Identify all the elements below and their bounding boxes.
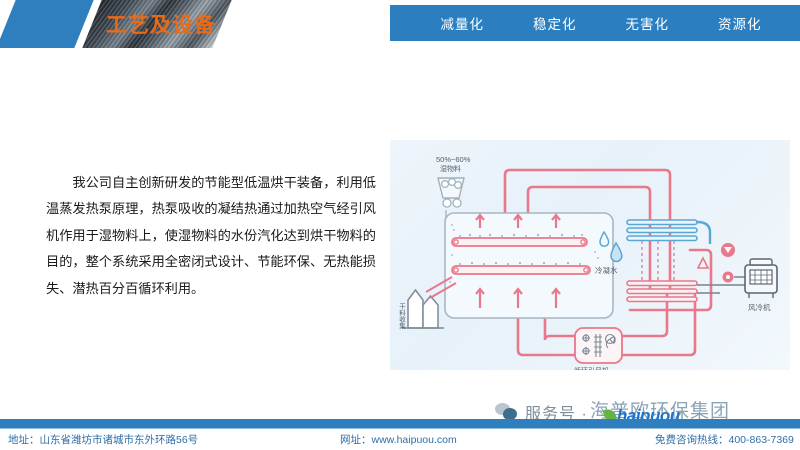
- header: 工艺及设备 减量化 稳定化 无害化 资源化: [0, 0, 800, 50]
- header-navbar: 减量化 稳定化 无害化 资源化: [390, 5, 800, 41]
- circulation-fan-label: 循环引风机: [574, 366, 609, 370]
- down-valve-icon: [721, 243, 735, 257]
- dry-collection-label: 干料收集: [398, 303, 406, 331]
- process-diagram: 50%~60% 湿物料 干料收集: [390, 140, 790, 370]
- air-cooler-label: 风冷机: [748, 302, 771, 312]
- diagram-svg: 50%~60% 湿物料 干料收集: [390, 140, 790, 370]
- wet-material-hopper-icon: [438, 178, 464, 218]
- nav-item-ziyuan[interactable]: 资源化: [718, 13, 762, 33]
- cooling-coil: [627, 220, 697, 241]
- circulation-fan-icon: [575, 328, 622, 363]
- nav-item-wuhai[interactable]: 无害化: [626, 13, 670, 33]
- wet-material-label: 湿物料: [440, 164, 461, 173]
- dry-collection-silo-icon: [402, 290, 444, 328]
- heating-coil: [627, 281, 697, 302]
- expansion-valve-icon: [698, 258, 708, 268]
- body-paragraph: 我公司自主创新研发的节能型低温烘干装备，利用低温蒸发热泵原理，热泵吸收的凝结热通…: [46, 170, 376, 302]
- footer-address: 地址：山东省潍坊市诸城市东外环路56号: [8, 432, 198, 447]
- blue-parallelogram-icon: [0, 0, 94, 48]
- footer-divider: [0, 428, 800, 429]
- air-cooler-lines: [697, 277, 745, 293]
- footer-website[interactable]: 网址：www.haipuou.com: [340, 432, 457, 447]
- wet-material-percent-label: 50%~60%: [436, 155, 471, 164]
- air-cooler-icon: [745, 259, 777, 298]
- nav-item-wending[interactable]: 稳定化: [533, 13, 577, 33]
- footer-bar: [0, 419, 800, 428]
- footer-hotline: 免费咨询热线：400-863-7369: [655, 432, 794, 447]
- page-title: 工艺及设备: [106, 9, 216, 39]
- nav-item-jianliang[interactable]: 减量化: [441, 13, 485, 33]
- cold-return-pipe: [697, 222, 710, 244]
- slide-root: 工艺及设备 减量化 稳定化 无害化 资源化 我公司自主创新研发的节能型低温烘干装…: [0, 0, 800, 450]
- compressor-valve-icon: [723, 272, 734, 283]
- condensate-water-label: 冷凝水: [595, 265, 618, 275]
